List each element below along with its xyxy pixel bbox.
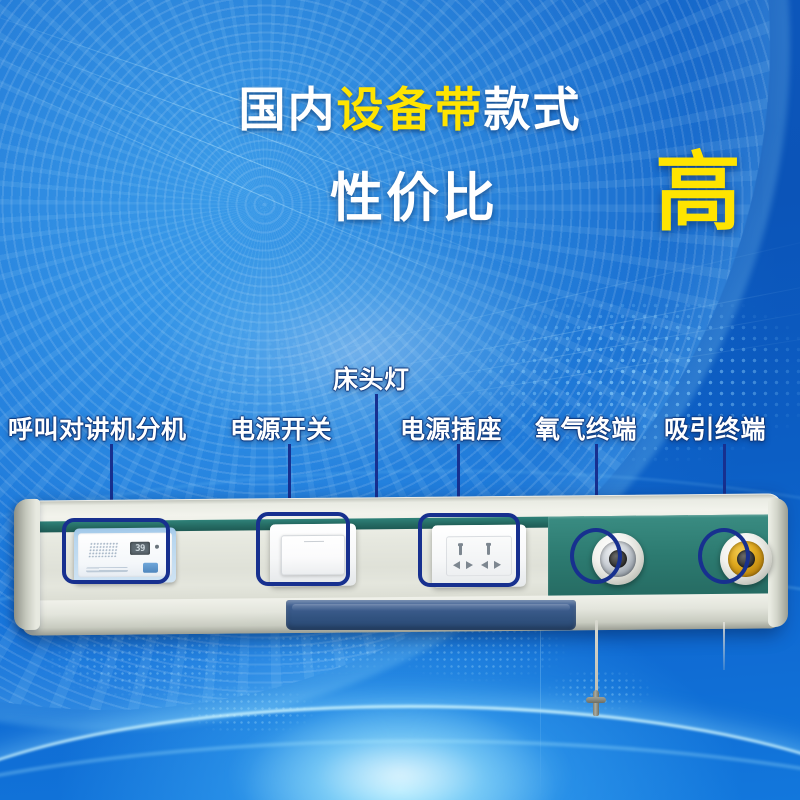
headline-text-highlight: 设备带	[337, 83, 484, 136]
highlight-box-suction-terminal	[698, 528, 750, 584]
callout-power-socket-label: 电源插座	[400, 410, 502, 446]
horizon-arc-bright	[0, 705, 800, 800]
vertical-light-line	[540, 620, 541, 800]
headline-line-1: 国内设备带款式	[0, 86, 800, 133]
leader-line-power-socket	[457, 444, 460, 504]
highlight-box-power-socket	[418, 513, 520, 587]
leader-line-intercom	[110, 444, 113, 504]
highlight-box-oxygen-terminal	[570, 528, 622, 584]
poster-canvas: 国内设备带款式 性价比 高 呼叫对讲机分机 电源开关 床头灯 电源插座 氧气终端…	[0, 0, 800, 800]
cord-cross-fitting	[586, 690, 606, 716]
bedside-lamp-strip[interactable]	[286, 600, 576, 630]
lens-flare-glow	[150, 235, 570, 465]
headline-line-2: 性价比	[330, 172, 498, 225]
suction-hanging-cord	[723, 622, 725, 670]
headline-text-suffix: 款式	[484, 83, 582, 136]
horizon-arc-inner	[0, 740, 800, 800]
callout-intercom-label: 呼叫对讲机分机	[8, 410, 187, 446]
oxygen-hanging-cord	[595, 620, 598, 700]
unit-end-cap-left	[14, 499, 40, 630]
callout-suction-terminal-label: 吸引终端	[664, 410, 766, 446]
horizon-sun-glow	[230, 700, 570, 800]
leader-line-power-switch	[288, 444, 291, 504]
callout-oxygen-terminal-label: 氧气终端	[535, 410, 637, 446]
headline-text-prefix: 国内	[239, 83, 337, 136]
highlight-box-intercom	[62, 518, 170, 584]
callout-bedside-lamp-label: 床头灯	[333, 360, 410, 396]
highlight-box-power-switch	[256, 512, 350, 586]
headline-emphasis-char: 高	[655, 150, 741, 236]
callout-power-switch-label: 电源开关	[230, 410, 332, 446]
